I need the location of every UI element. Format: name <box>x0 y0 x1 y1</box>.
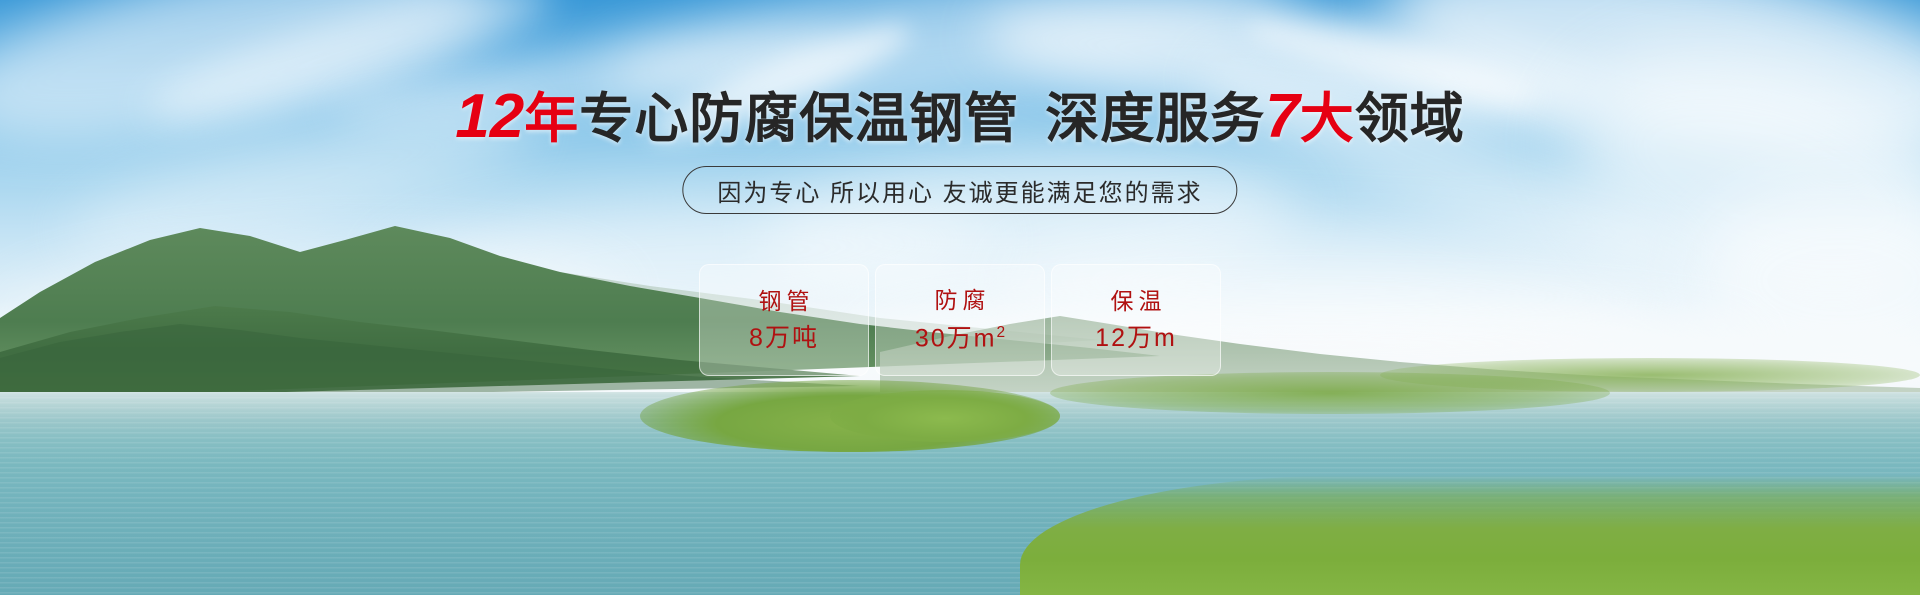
headline-years-number: 12 <box>455 82 524 151</box>
stat-value: 30万m2 <box>915 325 1005 351</box>
stat-value-main: 30万m <box>915 324 997 352</box>
stat-card-steel-pipe[interactable]: 钢管 8万吨 <box>699 264 869 376</box>
page-title: 12年专心防腐保温钢管深度服务7大领域 <box>0 86 1920 148</box>
headline-text-tertiary: 领域 <box>1355 89 1465 149</box>
headline-fields-unit: 大 <box>1300 89 1355 149</box>
headline-years-unit: 年 <box>524 89 579 149</box>
distant-marsh <box>1050 372 1610 414</box>
stat-value: 12万m <box>1095 326 1177 351</box>
stat-card-insulation[interactable]: 保温 12万m <box>1051 264 1221 376</box>
headline-text-secondary: 深度服务 <box>1045 89 1265 149</box>
foreground-grass <box>1020 475 1920 595</box>
stat-value-main: 12万m <box>1095 324 1177 352</box>
stat-value-main: 8万吨 <box>749 324 819 352</box>
headline-fields-number: 7 <box>1265 82 1299 151</box>
headline-text-primary: 专心防腐保温钢管 <box>579 89 1019 149</box>
stat-value-superscript: 2 <box>997 324 1006 341</box>
grass-island <box>830 390 1060 442</box>
stat-label: 钢管 <box>754 290 815 313</box>
subtitle-text: 因为专心 所以用心 友诚更能满足您的需求 <box>717 173 1202 208</box>
stat-label: 保温 <box>1106 290 1167 313</box>
stat-value: 8万吨 <box>749 326 819 351</box>
stat-card-group: 钢管 8万吨 防腐 30万m2 保温 12万m <box>699 264 1221 376</box>
stat-card-anticorrosion[interactable]: 防腐 30万m2 <box>875 264 1045 376</box>
stat-label: 防腐 <box>930 289 991 312</box>
hero-banner: 12年专心防腐保温钢管深度服务7大领域 因为专心 所以用心 友诚更能满足您的需求… <box>0 0 1920 595</box>
subtitle-pill: 因为专心 所以用心 友诚更能满足您的需求 <box>682 166 1237 214</box>
